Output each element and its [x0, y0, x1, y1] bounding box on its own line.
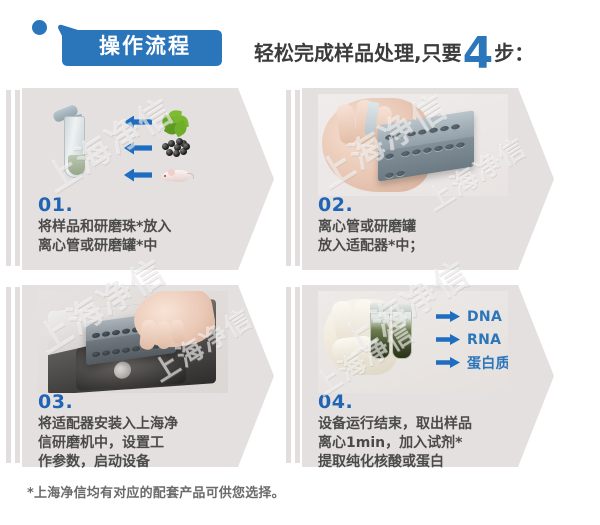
- card-accent-bar: [15, 287, 20, 463]
- output-label: RNA: [467, 332, 501, 348]
- step-text-line: 将样品和研磨珠*放入: [38, 218, 238, 237]
- step-card-2: 02. 离心管或研磨罐 放入适配器*中； 上海净信 上海净信: [302, 88, 554, 270]
- sample-tube-icon: [370, 303, 390, 359]
- headline-text-prefix: 轻松完成样品处理,只要: [254, 38, 462, 70]
- step-2-illustration: [318, 94, 508, 196]
- green-leaf-icon: [162, 110, 188, 134]
- step-number: 04.: [318, 392, 518, 413]
- operation-flow-infographic: 操作流程 轻松完成样品处理,只要 4 步：: [0, 0, 600, 525]
- output-row-rna: RNA: [436, 328, 508, 351]
- step-1-text: 01. 将样品和研磨珠*放入 离心管或研磨罐*中: [38, 195, 238, 256]
- arrow-left-icon: [124, 142, 152, 155]
- output-label: 蛋白质: [467, 353, 508, 373]
- header: 操作流程 轻松完成样品处理,只要 4 步：: [0, 0, 600, 88]
- step-1-illustration: [38, 94, 228, 196]
- step-card-3: 03. 将适配器安装入上海净 信研磨机中，设置工 作参数，启动设备 上海净信 上…: [22, 285, 274, 467]
- card-accent-bar: [6, 287, 11, 463]
- arrow-left-icon: [124, 169, 152, 182]
- arrow-right-icon: [436, 357, 460, 368]
- sample-source-row-animal: [124, 166, 192, 184]
- centrifuge-tube-icon: [62, 108, 88, 184]
- card-accent-bar: [286, 287, 291, 463]
- card-accent-bar: [295, 90, 300, 266]
- output-row-protein: 蛋白质: [436, 351, 508, 374]
- step-card-1: 01. 将样品和研磨珠*放入 离心管或研磨罐*中 上海净信: [22, 88, 274, 270]
- banner-dot-icon: [32, 20, 47, 35]
- step-4-text: 04. 设备运行结束，取出样品 离心1min，加入试剂* 提取纯化核酸或蛋白: [318, 392, 518, 472]
- section-banner: 操作流程: [54, 22, 224, 68]
- step-card-4: DNA RNA 蛋白质 04. 设备运行结束，取出样品 离心1min，加入试剂*: [302, 285, 554, 467]
- arrow-left-icon: [124, 116, 152, 129]
- step-text-line: 作参数，启动设备: [38, 453, 238, 472]
- headline: 轻松完成样品处理,只要 4 步：: [254, 24, 534, 70]
- card-accent-bar: [6, 90, 11, 266]
- footer-note: *上海净信均有对应的配套产品可供您选择。: [27, 482, 285, 501]
- step-text-line: 离心管或研磨罐*中: [38, 237, 238, 256]
- lab-mouse-icon: [162, 166, 192, 184]
- output-row-dna: DNA: [436, 305, 508, 328]
- step-3-illustration: [38, 291, 228, 393]
- step-text-line: 设备运行结束，取出样品: [318, 415, 518, 434]
- card-accent-bar: [286, 90, 291, 266]
- step-text-line: 离心1min，加入试剂*: [318, 434, 518, 453]
- steps-grid: 01. 将样品和研磨珠*放入 离心管或研磨罐*中 上海净信: [0, 88, 600, 468]
- step-text-line: 信研磨机中，设置工: [38, 434, 238, 453]
- headline-text-suffix: 步：: [494, 38, 534, 70]
- step-3-text: 03. 将适配器安装入上海净 信研磨机中，设置工 作参数，启动设备: [38, 392, 238, 472]
- card-accent-bar: [295, 287, 300, 463]
- sample-tube-icon: [392, 303, 412, 359]
- headline-step-count: 4: [462, 35, 495, 73]
- step-text-line: 放入适配器*中；: [318, 237, 518, 256]
- arrow-right-icon: [436, 311, 460, 322]
- step-text-line: 离心管或研磨罐: [318, 218, 518, 237]
- arrow-right-icon: [436, 334, 460, 345]
- banner-label: 操作流程: [54, 22, 224, 68]
- step-2-text: 02. 离心管或研磨罐 放入适配器*中；: [318, 195, 518, 256]
- output-label: DNA: [467, 309, 502, 325]
- step-number: 02.: [318, 195, 518, 216]
- step-number: 01.: [38, 195, 238, 216]
- card-accent-bar: [15, 90, 20, 266]
- grinding-beads-icon: [162, 138, 190, 158]
- sample-source-row-beads: [124, 138, 190, 158]
- step-text-line: 将适配器安装入上海净: [38, 415, 238, 434]
- step-4-illustration: DNA RNA 蛋白质: [318, 291, 508, 393]
- step-number: 03.: [38, 392, 238, 413]
- step-text-line: 提取纯化核酸或蛋白: [318, 453, 518, 472]
- sample-source-row-plant: [124, 110, 188, 134]
- extraction-outputs: DNA RNA 蛋白质: [436, 305, 508, 374]
